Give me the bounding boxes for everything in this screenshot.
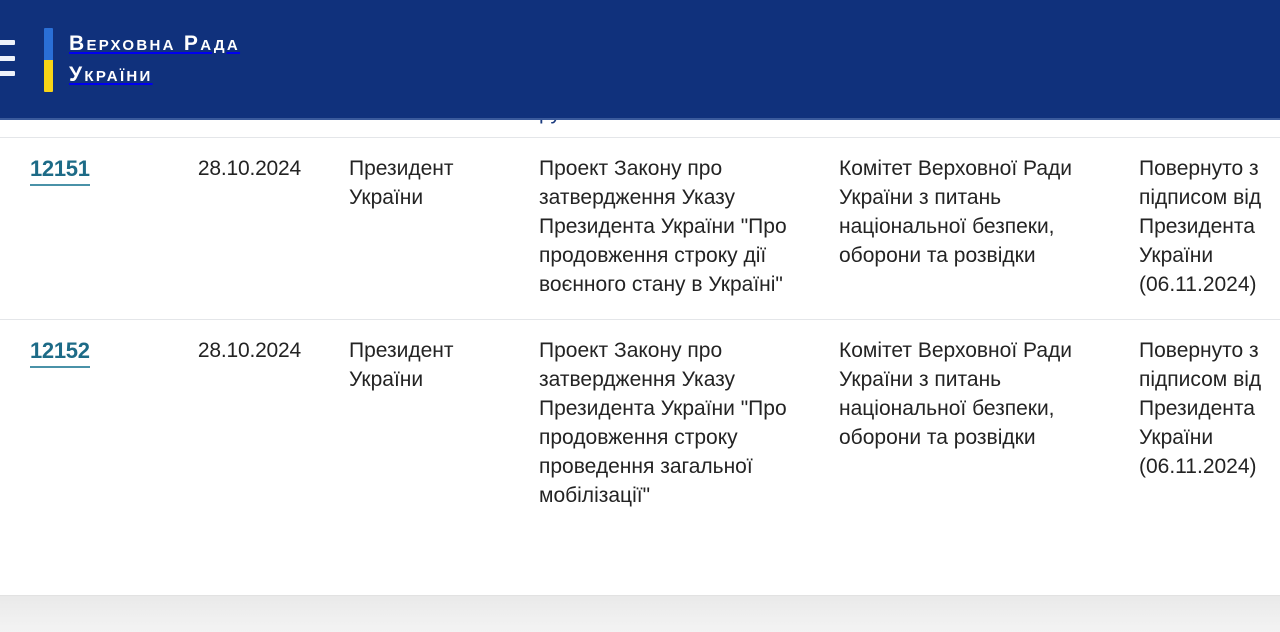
table-row[interactable]: 12151 28.10.2024 Президент України Проек…	[0, 138, 1280, 320]
header-inner: Верховна Рада України	[0, 0, 1280, 120]
cell-author: Президент України	[335, 320, 525, 531]
site-header: Верховна Рада України	[0, 0, 1280, 120]
cell-registration-date: 28.10.2024	[170, 320, 335, 531]
brand-name-text: Верховна Рада України	[69, 28, 240, 92]
cell-registration-date: 28.10.2024	[170, 138, 335, 320]
bill-number-link[interactable]: 12151	[30, 156, 90, 186]
cell-number: 12151	[0, 138, 170, 320]
cell-committee: Комітет Верховної Ради України з питань …	[825, 138, 1125, 320]
header-bottom-rule	[0, 118, 1280, 120]
cell-number: 12152	[0, 320, 170, 531]
cell-status: Повернуто з підписом від Президента Укра…	[1125, 320, 1280, 531]
bill-number-link[interactable]: 12152	[30, 338, 90, 368]
cell-bill-title: Проект Закону про затвердження Указу Пре…	[525, 138, 825, 320]
flag-blue-stripe	[44, 28, 53, 60]
hamburger-bar-1	[0, 40, 15, 45]
page-root: ру 12151 28.10.2024 Президент України Пр…	[0, 0, 1280, 632]
ukraine-flag-icon	[44, 28, 53, 92]
cell-bill-title: Проект Закону про затвердження Указу Пре…	[525, 320, 825, 531]
cell-committee: Комітет Верховної Ради України з питань …	[825, 320, 1125, 531]
bills-table-body: ру 12151 28.10.2024 Президент України Пр…	[0, 98, 1280, 530]
bills-table: ру 12151 28.10.2024 Президент України Пр…	[0, 98, 1280, 530]
hamburger-menu-icon[interactable]	[0, 36, 15, 80]
cell-author: Президент України	[335, 138, 525, 320]
hamburger-bar-2	[0, 56, 15, 61]
flag-yellow-stripe	[44, 60, 53, 92]
cell-status: Повернуто з підписом від Президента Укра…	[1125, 138, 1280, 320]
table-row[interactable]: 12152 28.10.2024 Президент України Проек…	[0, 320, 1280, 531]
hamburger-bar-3	[0, 71, 15, 76]
brand-logo-link[interactable]: Верховна Рада України	[44, 28, 240, 92]
footer-band	[0, 595, 1280, 632]
